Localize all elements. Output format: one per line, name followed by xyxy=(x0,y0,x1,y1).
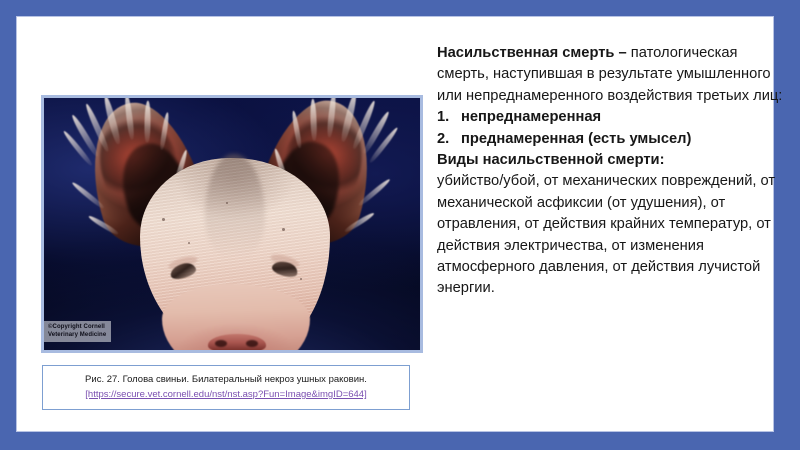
skin-speck xyxy=(188,242,190,244)
skin-speck xyxy=(226,202,228,204)
list-item: 2. преднамеренная (есть умысел) xyxy=(437,129,785,150)
figure-photo-frame: ©Copyright Cornell Veterinary Medicine xyxy=(41,95,423,353)
definition-paragraph: Насильственная смерть – патологическая с… xyxy=(437,43,785,107)
copyright-watermark: ©Copyright Cornell Veterinary Medicine xyxy=(44,321,111,342)
skin-speck xyxy=(282,228,285,231)
list-item: 1. непреднамеренная xyxy=(437,107,785,128)
slide-canvas: ©Copyright Cornell Veterinary Medicine Р… xyxy=(16,16,774,432)
pig-head-photo: ©Copyright Cornell Veterinary Medicine xyxy=(44,98,420,350)
kinds-heading: Виды насильственной смерти: xyxy=(437,150,785,171)
nostril-right xyxy=(246,340,258,347)
skin-speck xyxy=(300,278,302,280)
kinds-body-text: убийство/убой, от механических поврежден… xyxy=(437,171,785,299)
figure-caption-box: Рис. 27. Голова свиньи. Билатеральный не… xyxy=(42,365,410,410)
slide: ©Copyright Cornell Veterinary Medicine Р… xyxy=(0,0,800,450)
term-label: Насильственная смерть – xyxy=(437,45,627,61)
skin-speck xyxy=(162,218,165,221)
content-text-block: Насильственная смерть – патологическая с… xyxy=(437,43,785,300)
figure-source-link[interactable]: [https://secure.vet.cornell.edu/nst/nst.… xyxy=(49,387,403,402)
death-type-list: 1. непреднамеренная 2. преднамеренная (е… xyxy=(437,107,785,150)
list-item-label: непреднамеренная xyxy=(461,107,601,128)
figure-caption-text: Рис. 27. Голова свиньи. Билатеральный не… xyxy=(49,372,403,387)
list-item-number: 1. xyxy=(437,107,461,128)
list-item-number: 2. xyxy=(437,129,461,150)
nostril-left xyxy=(215,340,227,347)
pig-nose xyxy=(208,334,266,350)
figure-block: ©Copyright Cornell Veterinary Medicine Р… xyxy=(41,95,423,353)
list-item-label: преднамеренная (есть умысел) xyxy=(461,129,691,150)
